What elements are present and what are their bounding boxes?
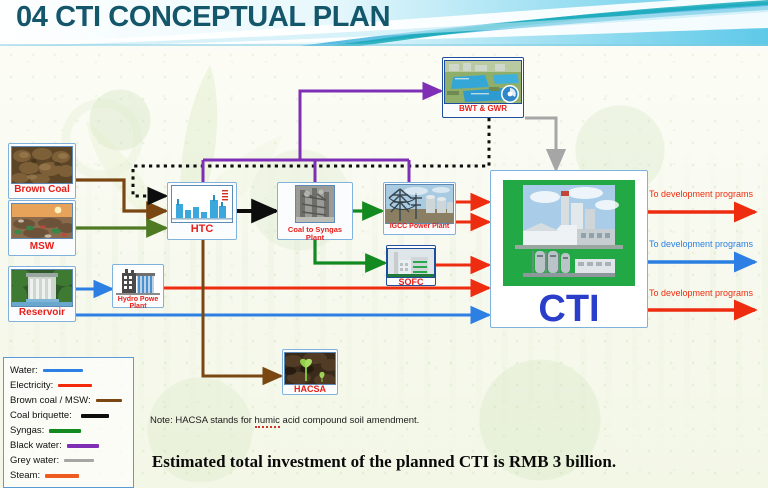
legend-swatch-grey-water <box>64 459 94 462</box>
node-label-htc: HTC <box>168 224 236 236</box>
legend-item-syngas: Syngas: <box>10 423 133 438</box>
sofc-plant-photo <box>387 248 435 278</box>
igcc-power-plant-photo <box>385 184 454 224</box>
legend-swatch-steam <box>45 474 79 478</box>
legend-swatch-coal-briquette <box>81 414 109 418</box>
node-htc[interactable]: HTC <box>167 182 237 240</box>
node-bwt-gwr[interactable]: BWT & GWR <box>442 57 524 118</box>
node-label-hydro-power-plant: Hydro Powe Plant <box>113 296 163 311</box>
node-brown-coal[interactable]: Brown Coal <box>8 143 76 199</box>
syngas-plant-photo <box>295 185 335 223</box>
legend-item-steam: Steam: <box>10 468 133 483</box>
legend-label-steam: Steam: <box>10 470 40 481</box>
node-label-hacsa: HACSA <box>283 385 337 394</box>
node-label-igcc-power-plant: IGCC Power Plant <box>384 223 455 230</box>
seedling-soil-photo <box>284 352 336 385</box>
node-label-sofc: SOFC <box>387 278 435 287</box>
legend-label-electricity: Electricity: <box>10 380 53 391</box>
node-msw[interactable]: MSW <box>8 200 76 256</box>
note-text: Note: HACSA stands for humic acid compou… <box>150 415 419 426</box>
reservoir-dam-photo <box>11 269 73 307</box>
output-label-1: To development programs <box>649 189 753 199</box>
legend-label-grey-water: Grey water: <box>10 455 59 466</box>
cti-image-panel <box>503 180 635 286</box>
note-suffix: acid compound soil amendment. <box>280 415 419 426</box>
legend-label-water: Water: <box>10 365 38 376</box>
legend-label-syngas: Syngas: <box>10 425 44 436</box>
legend-swatch-water <box>43 369 83 372</box>
legend-swatch-brown-coal-msw <box>96 399 122 402</box>
slide-canvas: 04 CTI CONCEPTUAL PLAN <box>0 0 768 488</box>
legend-item-coal-briquette: Coal briquette: <box>10 408 133 423</box>
legend-label-black-water: Black water: <box>10 440 62 451</box>
node-hacsa[interactable]: HACSA <box>282 349 338 395</box>
legend-item-grey-water: Grey water: <box>10 453 133 468</box>
water-treatment-photo <box>444 60 522 104</box>
legend-item-electricity: Electricity: <box>10 378 133 393</box>
cti-industrial-photo <box>515 185 623 281</box>
node-reservoir[interactable]: Reservoir <box>8 266 76 322</box>
municipal-solid-waste-photo <box>11 203 73 239</box>
legend: Water: Electricity: Brown coal / MSW: Co… <box>3 357 134 488</box>
hydro-power-plant-icon <box>116 267 160 295</box>
node-hydro-power-plant[interactable]: Hydro Powe Plant <box>112 264 164 308</box>
node-label-msw: MSW <box>9 242 75 253</box>
node-coal-to-syngas-plant[interactable]: Coal to Syngas Plant <box>277 182 353 240</box>
legend-item-brown-coal-msw: Brown coal / MSW: <box>10 393 133 408</box>
node-igcc-power-plant[interactable]: IGCC Power Plant <box>383 182 456 235</box>
node-label-cti: CTI <box>491 290 647 328</box>
node-sofc[interactable]: SOFC <box>386 245 436 286</box>
node-label-reservoir: Reservoir <box>9 308 75 319</box>
note-prefix: Note: HACSA stands for <box>150 415 255 426</box>
page-title: 04 CTI CONCEPTUAL PLAN <box>16 1 390 34</box>
legend-swatch-electricity <box>58 384 92 387</box>
output-label-3: To development programs <box>649 288 753 298</box>
legend-swatch-black-water <box>67 444 99 448</box>
legend-label-coal-briquette: Coal briquette: <box>10 410 72 421</box>
note-underlined-word: humic <box>255 415 280 428</box>
legend-label-brown-coal-msw: Brown coal / MSW: <box>10 395 91 406</box>
node-label-bwt-gwr: BWT & GWR <box>443 105 523 113</box>
node-label-coal-to-syngas-plant: Coal to Syngas Plant <box>278 226 352 242</box>
node-label-brown-coal: Brown Coal <box>9 185 75 196</box>
htc-chart-icon <box>171 185 233 223</box>
node-cti[interactable]: CTI <box>490 170 648 328</box>
legend-item-black-water: Black water: <box>10 438 133 453</box>
legend-item-water: Water: <box>10 363 133 378</box>
brown-coal-photo <box>11 146 73 184</box>
output-label-2: To development programs <box>649 239 753 249</box>
legend-swatch-syngas <box>49 429 81 433</box>
